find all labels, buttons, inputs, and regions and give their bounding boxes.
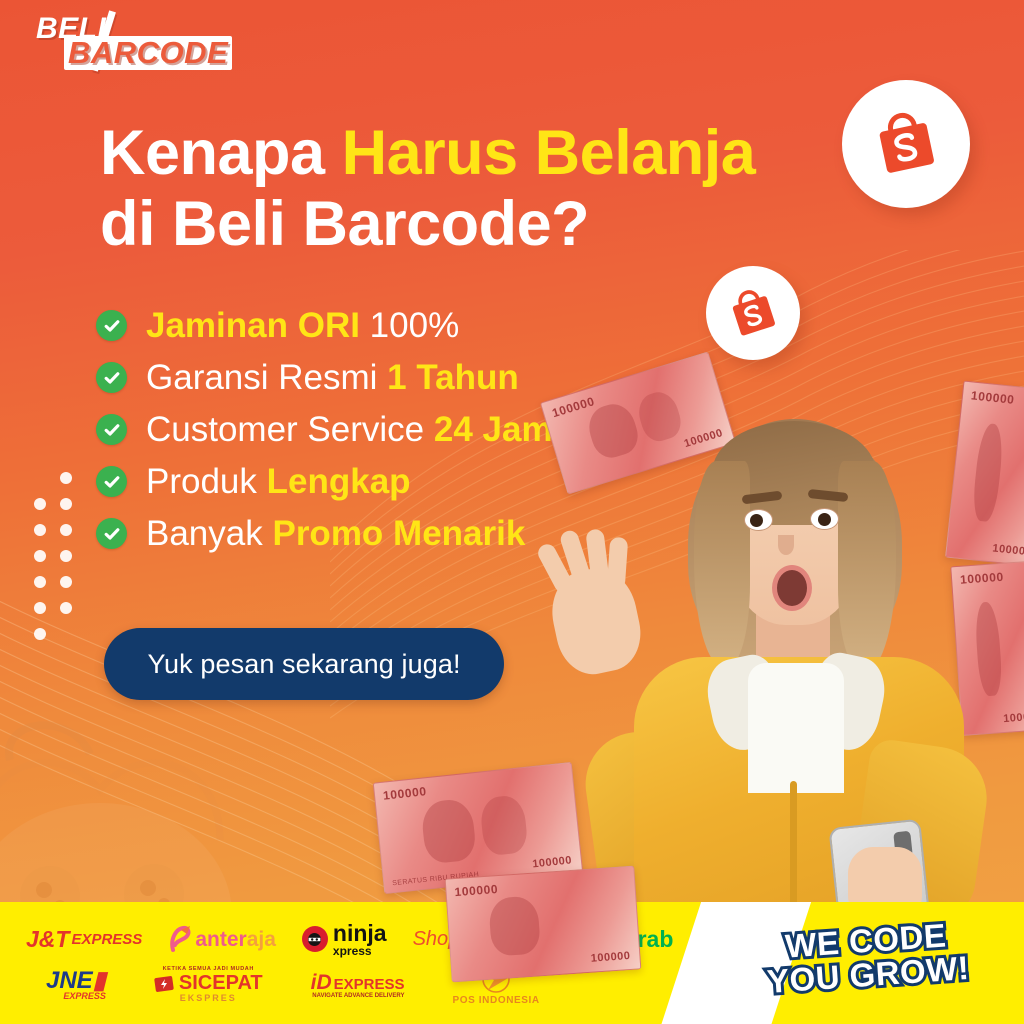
- sicepat-bolt-icon: [154, 972, 176, 994]
- benefit-label: Garansi Resmi 1 Tahun: [146, 360, 519, 395]
- cta-button[interactable]: Yuk pesan sekarang juga!: [104, 628, 504, 700]
- headline-line1-emphasis: Harus Belanja: [342, 118, 756, 188]
- benefit-label: Banyak Promo Menarik: [146, 516, 525, 551]
- courier-logo-anteraja[interactable]: anteraja: [168, 925, 276, 953]
- check-circle-icon: [96, 466, 127, 497]
- shopee-bag-icon[interactable]: [706, 266, 800, 360]
- courier-logo-jnt[interactable]: J&TEXPRESS: [26, 928, 142, 951]
- check-circle-icon: [96, 310, 127, 341]
- check-circle-icon: [96, 414, 127, 445]
- shopee-bag-icon[interactable]: [842, 80, 970, 208]
- list-item: Produk Lengkap: [96, 456, 696, 507]
- promo-banner: BELI BARCODE Kenapa Harus Belanja di Bel…: [0, 0, 1024, 1024]
- list-item: Customer Service 24 Jam: [96, 404, 696, 455]
- banknote: 100000 100000: [945, 380, 1024, 567]
- benefit-label: Customer Service 24 Jam: [146, 412, 553, 447]
- benefit-label: Produk Lengkap: [146, 464, 411, 499]
- banknote: 100000 100000: [950, 560, 1024, 736]
- cta-button-label: Yuk pesan sekarang juga!: [147, 649, 460, 680]
- headline-line2: di Beli Barcode?: [100, 189, 589, 259]
- check-circle-icon: [96, 518, 127, 549]
- logo-text-barcode: BARCODE: [64, 36, 232, 70]
- list-item: Garansi Resmi 1 Tahun: [96, 352, 696, 403]
- page-title: Kenapa Harus Belanja di Beli Barcode?: [100, 118, 860, 260]
- headline-line1-plain: Kenapa: [100, 118, 342, 188]
- list-item: Banyak Promo Menarik: [96, 508, 696, 559]
- ninja-pin-icon: [302, 926, 328, 952]
- courier-logo-jne[interactable]: JNE▮ EXPRESS: [46, 970, 106, 1000]
- banknote: 100000 100000: [445, 865, 642, 982]
- benefit-label: Jaminan ORI 100%: [146, 308, 459, 343]
- benefit-list: Jaminan ORI 100% Garansi Resmi 1 Tahun C…: [96, 300, 696, 560]
- brand-logo[interactable]: BELI BARCODE: [22, 12, 222, 70]
- anteraja-mark-icon: [168, 925, 192, 953]
- courier-logo-id-express[interactable]: iD EXPRESS NAVIGATE ADVANCE DELIVERY: [311, 972, 405, 999]
- check-circle-icon: [96, 362, 127, 393]
- courier-logo-ninja-xpress[interactable]: ninja xpress: [302, 922, 387, 957]
- list-item: Jaminan ORI 100%: [96, 300, 696, 351]
- courier-logo-sicepat[interactable]: KETIKA SEMUA JADI MUDAH SICEPAT EKSPRES: [154, 967, 263, 1004]
